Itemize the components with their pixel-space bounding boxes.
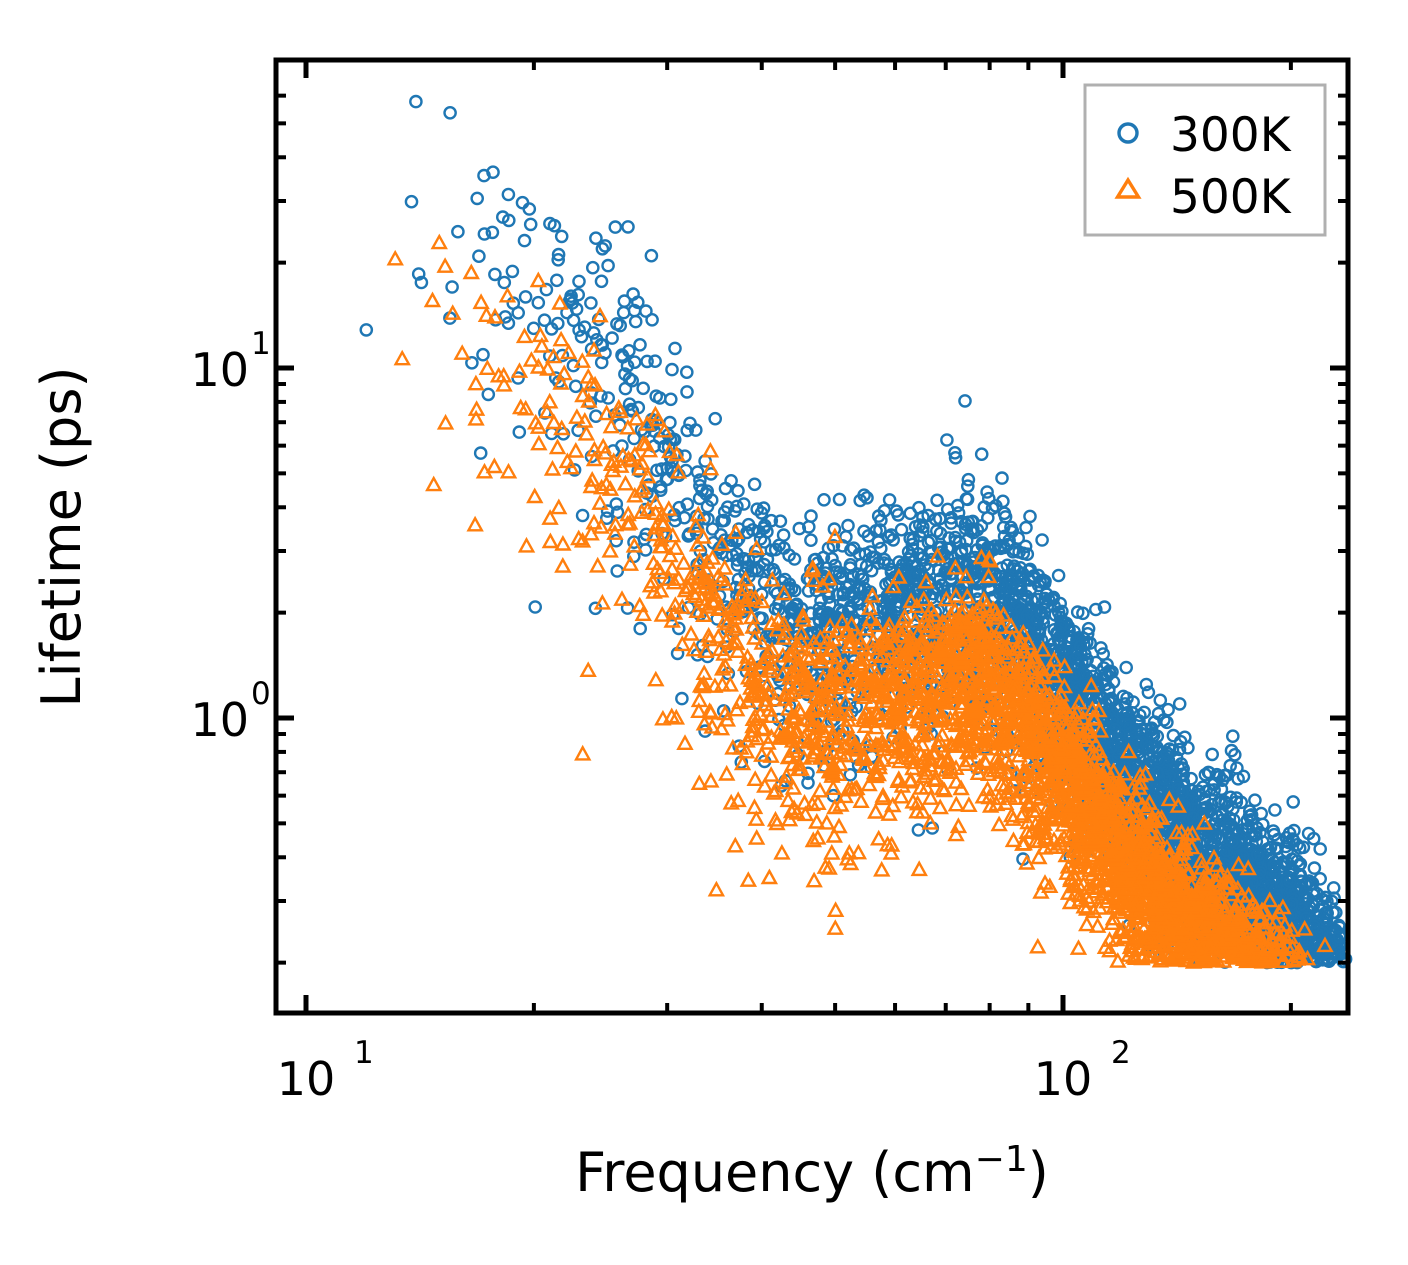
- scatter-plot: 10 1 10 2 10 1 10 0 Frequency (cm−1) Lif…: [0, 0, 1408, 1265]
- figure-canvas: 10 1 10 2 10 1 10 0 Frequency (cm−1) Lif…: [0, 0, 1408, 1265]
